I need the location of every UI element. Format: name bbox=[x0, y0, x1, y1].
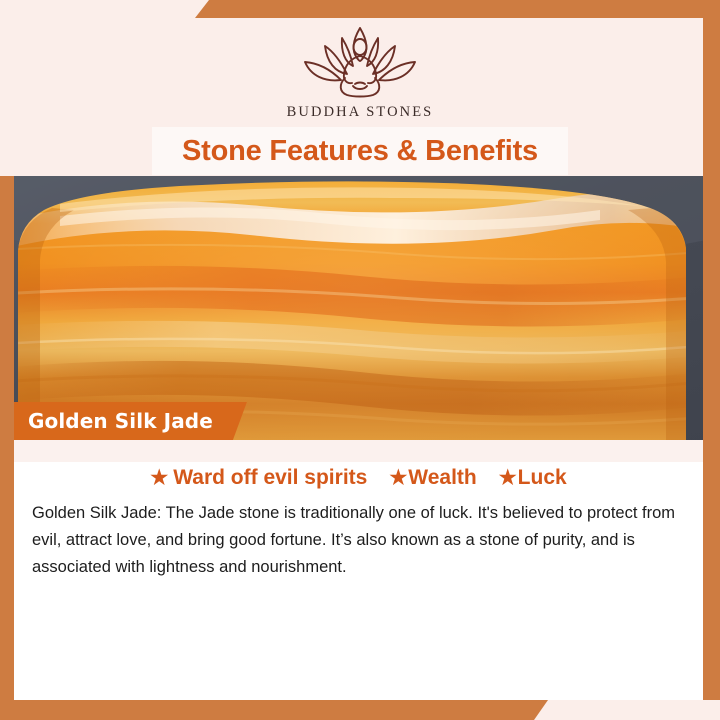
page-title: Stone Features & Benefits bbox=[182, 135, 538, 168]
stone-photo bbox=[0, 176, 720, 441]
section-title-box: Stone Features & Benefits bbox=[152, 127, 568, 175]
decor-top-bar bbox=[195, 0, 720, 18]
decor-right-bar bbox=[703, 0, 720, 442]
benefits-row: ★ Ward off evil spirits ★ Wealth ★ Luck bbox=[14, 466, 703, 490]
decor-left-bar bbox=[0, 176, 14, 720]
brand-logo: BUDDHA STONES bbox=[0, 22, 720, 121]
stone-name-label: Golden Silk Jade bbox=[28, 409, 213, 433]
decor-right-lower-bar bbox=[703, 442, 720, 700]
stone-name-banner: Golden Silk Jade bbox=[0, 402, 247, 440]
benefit-item-0: ★ Ward off evil spirits bbox=[150, 466, 367, 490]
benefit-label-0: Ward off evil spirits bbox=[173, 466, 367, 490]
benefit-label-1: Wealth bbox=[408, 466, 476, 490]
star-icon: ★ bbox=[150, 468, 168, 488]
star-icon: ★ bbox=[499, 468, 517, 488]
benefit-label-2: Luck bbox=[518, 466, 567, 490]
benefit-item-1: ★ Wealth bbox=[389, 466, 476, 490]
star-icon: ★ bbox=[389, 468, 407, 488]
brand-name: BUDDHA STONES bbox=[287, 104, 434, 121]
stone-photo-graphic bbox=[0, 176, 720, 441]
lotus-meditation-icon bbox=[285, 22, 435, 100]
promo-card: BUDDHA STONES Stone Features & Benefits … bbox=[0, 0, 720, 720]
benefit-item-2: ★ Luck bbox=[499, 466, 567, 490]
card-top-tint bbox=[14, 440, 703, 462]
stone-description: Golden Silk Jade: The Jade stone is trad… bbox=[32, 500, 692, 581]
decor-bottom-bar bbox=[0, 700, 548, 720]
